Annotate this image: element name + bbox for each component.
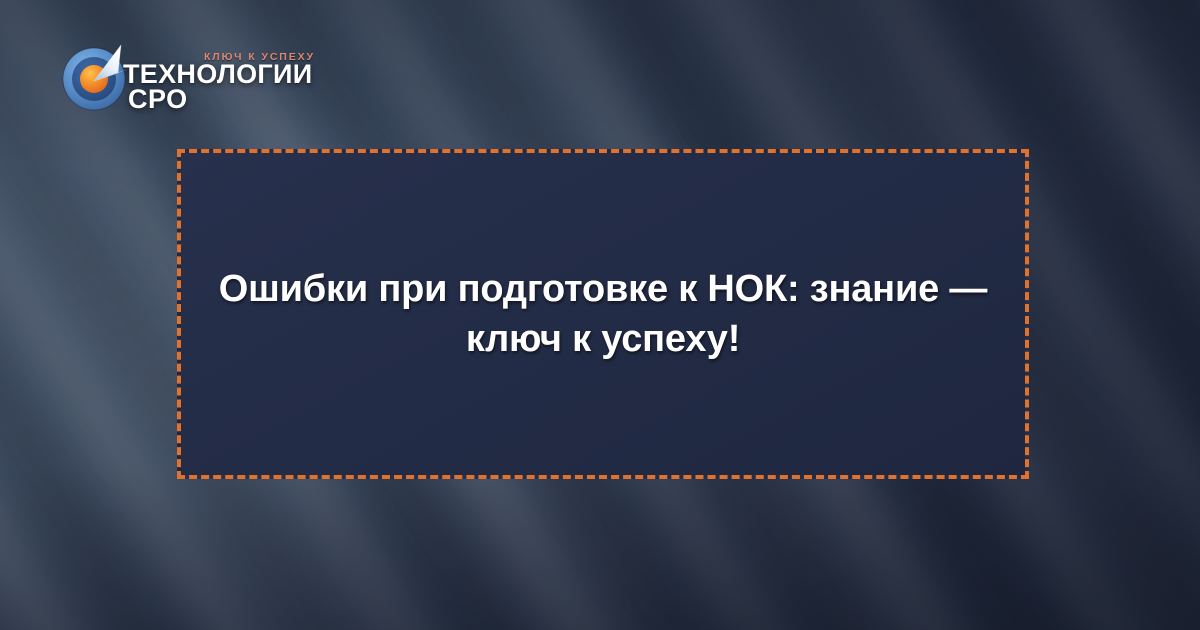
brand-name-secondary: СРО — [128, 86, 188, 113]
page-title: Ошибки при подготовке к НОК: знание — кл… — [207, 264, 999, 364]
brand-logo[interactable]: КЛЮЧ К УСПЕХУ ТЕХНОЛОГИИ СРО — [58, 34, 308, 120]
brand-logo-text: КЛЮЧ К УСПЕХУ ТЕХНОЛОГИИ СРО — [116, 34, 316, 114]
cover-canvas: КЛЮЧ К УСПЕХУ ТЕХНОЛОГИИ СРО Ошибки при … — [0, 0, 1200, 630]
title-card: Ошибки при подготовке к НОК: знание — кл… — [177, 149, 1029, 479]
